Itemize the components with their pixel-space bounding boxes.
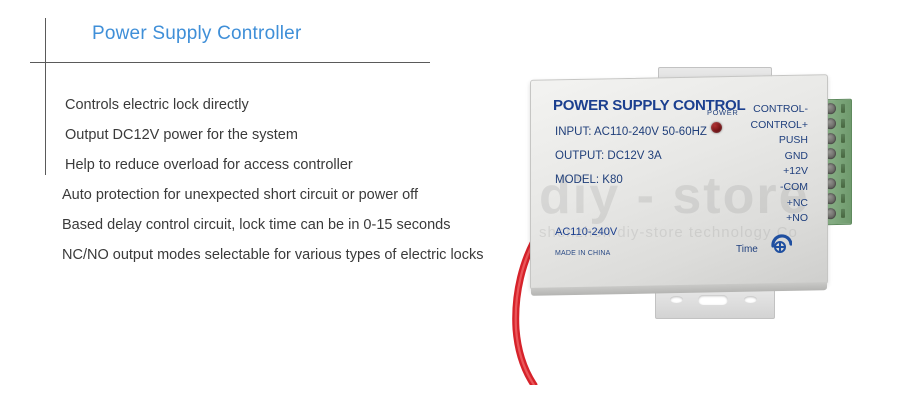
list-item: Auto protection for unexpected short cir… [62, 180, 562, 210]
terminal-label: +12V [736, 164, 808, 180]
product-info-banner: Power Supply Controller Controls electri… [0, 0, 900, 400]
list-item: Output DC12V power for the system [62, 120, 562, 150]
list-item: Help to reduce overload for access contr… [62, 150, 562, 180]
product-photo: diy - store shenzhen diy-store technolog… [500, 55, 900, 385]
terminal-label-list: CONTROL- CONTROL+ PUSH GND +12V -COM +NC… [736, 102, 808, 227]
time-potentiometer-icon [770, 232, 792, 254]
terminal-label: GND [736, 149, 808, 165]
power-supply-unit-body: diy - store shenzhen diy-store technolog… [530, 74, 828, 290]
list-item: Based delay control circuit, lock time c… [62, 210, 562, 240]
power-indicator-label: POWER [707, 108, 738, 117]
horizontal-divider-rule [30, 62, 430, 63]
list-item: NC/NO output modes selectable for variou… [62, 240, 562, 270]
terminal-label: CONTROL- [736, 102, 808, 118]
ac-rating-label: AC110-240V [555, 226, 617, 238]
terminal-label: PUSH [736, 133, 808, 149]
input-rating-label: INPUT: AC110-240V 50-60HZ [555, 126, 707, 138]
page-title: Power Supply Controller [92, 23, 301, 45]
list-item: Controls electric lock directly [62, 90, 562, 120]
terminal-label: CONTROL+ [736, 118, 808, 134]
terminal-label: -COM [736, 180, 808, 196]
bracket-hole [744, 296, 757, 303]
time-adjust-label: Time [736, 244, 758, 255]
bracket-keyhole [698, 295, 728, 305]
power-led-icon [711, 122, 722, 133]
vertical-divider-rule [45, 18, 46, 175]
origin-label: MADE IN CHINA [555, 250, 611, 257]
output-rating-label: OUTPUT: DC12V 3A [555, 150, 662, 162]
terminal-label: +NO [736, 211, 808, 227]
model-label: MODEL: K80 [555, 174, 623, 186]
bracket-hole [670, 296, 683, 303]
feature-list: Controls electric lock directly Output D… [62, 90, 562, 270]
terminal-label: +NC [736, 196, 808, 212]
